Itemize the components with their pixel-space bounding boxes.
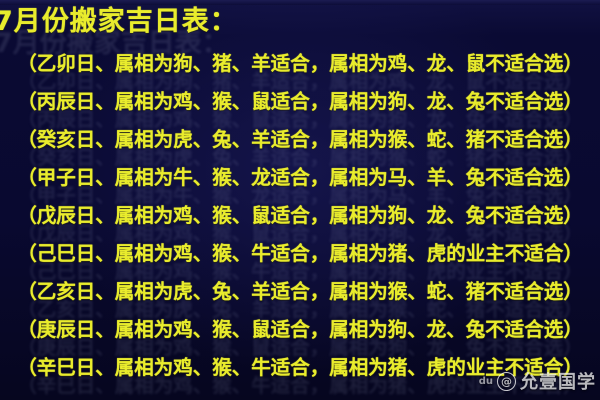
- almanac-row: （癸亥日、属相为虎、兔、羊适合，属相为猴、蛇、猪不适合选）: [0, 128, 600, 152]
- almanac-row: （丙辰日、属相为鸡、猴、鼠适合，属相为狗、龙、兔不适合选）: [0, 90, 600, 114]
- almanac-row: （甲子日、属相为牛、猴、龙适合，属相为马、羊、兔不适合选）: [0, 166, 600, 190]
- poster-content: 7月份搬家吉日表： （乙卯日、属相为狗、猪、羊适合，属相为鸡、龙、鼠不适合选） …: [0, 0, 600, 400]
- poster-image: 7月份搬家吉日表： （乙卯日、属相为狗、猪、羊适合，属相为鸡、龙、鼠不适合选） …: [0, 0, 600, 400]
- page-title: 7月份搬家吉日表：: [0, 6, 594, 38]
- almanac-row: （辛巳日、属相为鸡、猴、牛适合，属相为猪、虎的业主不适合）: [0, 356, 600, 380]
- almanac-row: （戊辰日、属相为鸡、猴、鼠适合，属相为狗、龙、兔不适合选）: [0, 204, 600, 228]
- almanac-row: （乙卯日、属相为狗、猪、羊适合，属相为鸡、龙、鼠不适合选）: [0, 52, 600, 76]
- almanac-row: （己巳日、属相为鸡、猴、牛适合，属相为猪、虎的业主不适合）: [0, 242, 600, 266]
- almanac-row: （乙亥日、属相为虎、兔、羊适合，属相为猴、蛇、猪不适合选）: [0, 280, 600, 304]
- almanac-row: （庚辰日、属相为鸡、猴、鼠适合，属相为狗、龙、兔不适合选）: [0, 318, 600, 342]
